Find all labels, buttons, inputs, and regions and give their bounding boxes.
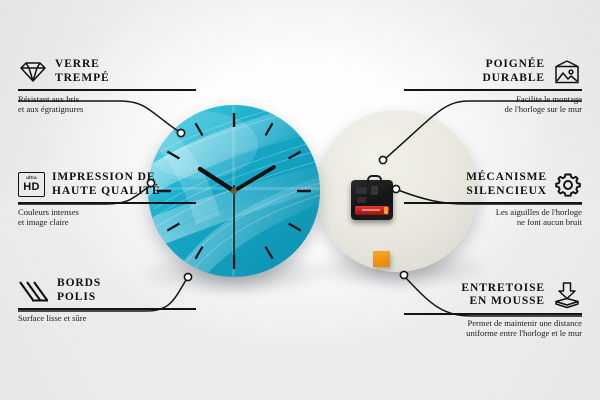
feature-divider xyxy=(404,202,582,204)
feature-heading: BORDS POLIS xyxy=(18,277,196,304)
polished-edges-icon xyxy=(18,279,50,303)
feature-title: ENTRETOISE EN MOUSSE xyxy=(461,282,545,309)
feature-mecanisme-silencieux: MÉCANISME SILENCIEUX Les aiguilles de l'… xyxy=(404,171,582,228)
leader-endpoint-dot xyxy=(177,129,184,136)
infographic-canvas: VERRE TREMPÉ Résistant aux bris et aux é… xyxy=(0,0,600,400)
feature-title: VERRE TREMPÉ xyxy=(55,58,110,85)
feature-description: Permet de maintenir une distance uniform… xyxy=(404,318,582,339)
feature-poignee-durable: POIGNÉE DURABLE Facilite le montage de l… xyxy=(404,58,582,115)
feature-description: Résistant aux bris et aux égratignures xyxy=(18,94,196,115)
feature-bords-polis: BORDS POLIS Surface lisse et sûre xyxy=(18,277,196,323)
foam-spacer-arrow-icon xyxy=(552,281,582,309)
feature-description: Les aiguilles de l'horloge ne font aucun… xyxy=(404,207,582,228)
feature-divider xyxy=(18,202,196,204)
feature-heading: ENTRETOISE EN MOUSSE xyxy=(404,281,582,309)
feature-impression-haute-qualite: ultra HD IMPRESSION DE HAUTE QUALITÉ Cou… xyxy=(18,171,196,228)
feature-heading: ultra HD IMPRESSION DE HAUTE QUALITÉ xyxy=(18,171,196,198)
leader-endpoint-dot xyxy=(400,271,407,278)
leader-endpoint-dot xyxy=(392,185,399,192)
leader-endpoint-dot xyxy=(379,156,386,163)
feature-title: MÉCANISME SILENCIEUX xyxy=(466,171,547,198)
feature-description: Facilite le montage de l'horloge sur le … xyxy=(404,94,582,115)
feature-title: BORDS POLIS xyxy=(57,277,101,304)
ultra-hd-icon-main-text: HD xyxy=(23,182,40,193)
ultra-hd-icon: ultra HD xyxy=(18,172,45,197)
feature-description: Surface lisse et sûre xyxy=(18,313,196,324)
feature-divider xyxy=(18,308,196,310)
feature-entretoise-en-mousse: ENTRETOISE EN MOUSSE Permet de maintenir… xyxy=(404,281,582,339)
diamond-icon xyxy=(18,60,48,84)
feature-divider xyxy=(404,313,582,315)
feature-heading: POIGNÉE DURABLE xyxy=(404,58,582,85)
feature-title: IMPRESSION DE HAUTE QUALITÉ xyxy=(52,171,161,198)
gear-icon xyxy=(554,172,582,198)
feature-divider xyxy=(404,89,582,91)
feature-heading: MÉCANISME SILENCIEUX xyxy=(404,171,582,198)
feature-description: Couleurs intenses et image claire xyxy=(18,207,196,228)
feature-divider xyxy=(18,89,196,91)
feature-verre-trempe: VERRE TREMPÉ Résistant aux bris et aux é… xyxy=(18,58,196,115)
feature-heading: VERRE TREMPÉ xyxy=(18,58,196,85)
feature-title: POIGNÉE DURABLE xyxy=(482,58,545,85)
wall-hanger-frame-icon xyxy=(552,59,582,85)
